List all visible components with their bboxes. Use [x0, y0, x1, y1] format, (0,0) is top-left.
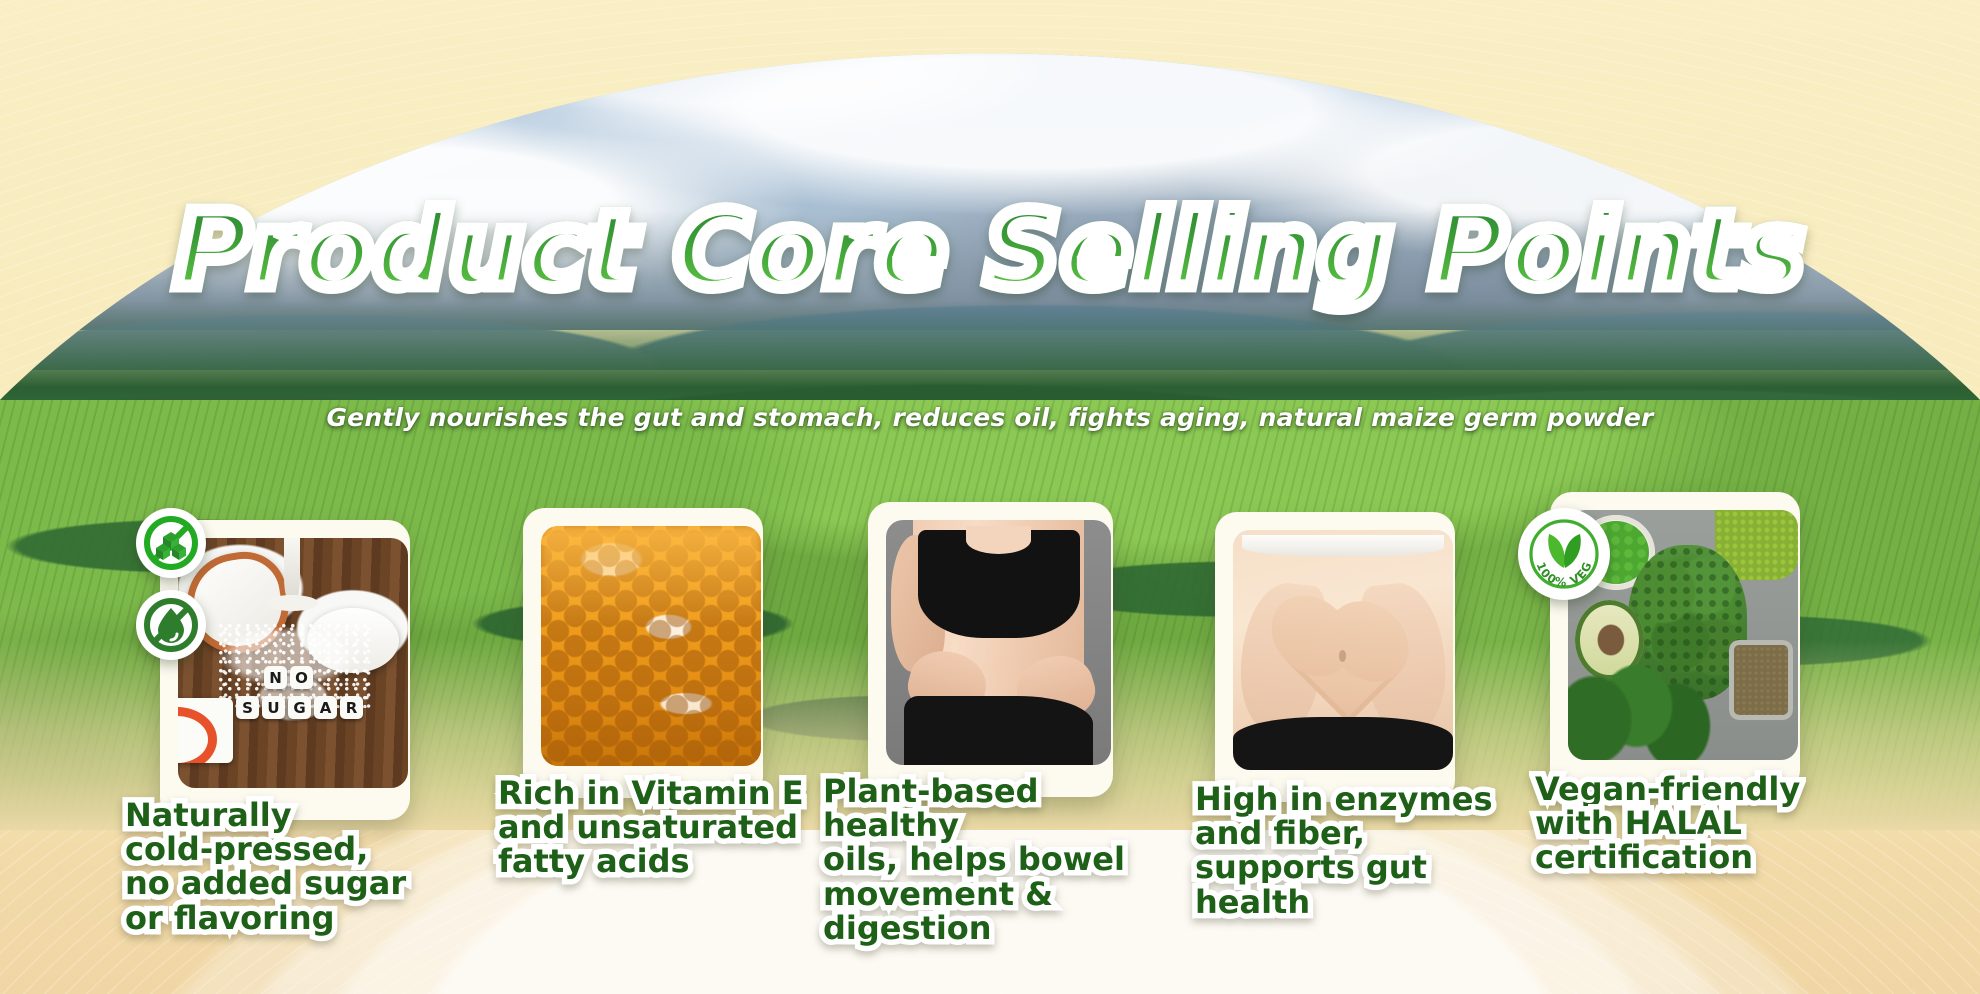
black-pants	[1233, 717, 1453, 770]
honeycomb-photo	[541, 526, 761, 766]
no-sugar-photo: N O S U G A R	[178, 538, 408, 788]
dice-row-sugar: S U G A R	[236, 696, 363, 719]
letter-die: U	[262, 696, 285, 719]
black-shorts	[904, 696, 1093, 765]
letter-die: A	[314, 696, 337, 719]
card-caption: Vegan-friendly with HALAL certification	[1535, 772, 1835, 875]
page-subtitle: Gently nourishes the gut and stomach, re…	[0, 403, 1980, 432]
no-oil-glyph	[143, 597, 199, 653]
orange-ring-decal	[178, 698, 233, 763]
vegan-badge-glyph: 100% VEGAN	[1522, 512, 1606, 596]
letter-die: S	[236, 696, 259, 719]
card-caption: Rich in Vitamin E and unsaturated fatty …	[498, 776, 808, 879]
card-vitamin-e[interactable]: Rich in Vitamin E and unsaturated fatty …	[523, 508, 743, 748]
no-sugar-icon	[136, 508, 206, 578]
letter-die: N	[264, 666, 287, 689]
dice-row-no: N O	[264, 666, 313, 689]
sugar-scoop	[284, 538, 300, 603]
sports-bra	[918, 530, 1080, 638]
card-caption: High in enzymes and fiber, supports gut …	[1195, 782, 1495, 919]
vegan-badge-icon: 100% VEGAN	[1518, 508, 1610, 600]
honey-highlight	[541, 526, 761, 627]
feature-cards-row: N O S U G A R Naturally cold-pressed, no…	[0, 520, 1980, 990]
spinach-leaves	[1568, 660, 1711, 760]
letter-die: O	[290, 666, 313, 689]
no-oil-icon	[136, 590, 206, 660]
seed-jar	[1729, 640, 1793, 720]
card-caption: Plant-based healthy oils, helps bowel mo…	[823, 774, 1183, 945]
torso-photo	[886, 520, 1111, 765]
navel	[1339, 650, 1346, 662]
letter-die: G	[288, 696, 311, 719]
letter-die: R	[340, 696, 363, 719]
no-sugar-glyph	[143, 515, 199, 571]
card-caption: Naturally cold-pressed, no added sugar o…	[125, 798, 455, 935]
white-waistband	[1242, 535, 1444, 557]
product-selling-points-banner: Product Core Selling Points Gently nouri…	[0, 0, 1980, 994]
belly-heart-hands-photo	[1233, 530, 1453, 770]
